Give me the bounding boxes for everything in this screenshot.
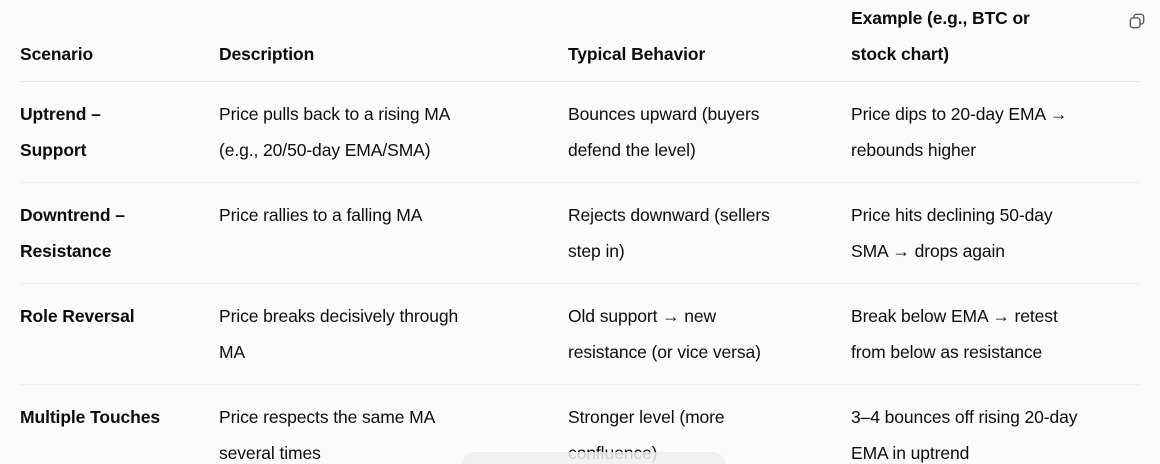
column-header-description: Description xyxy=(219,0,568,82)
cell-scenario: Downtrend – Resistance xyxy=(20,183,219,284)
cell-typical-behavior: Rejects downward (sellers step in) xyxy=(568,183,851,284)
table-row: Uptrend – Support Price pulls back to a … xyxy=(20,82,1140,183)
cell-text-line: (e.g., 20/50-day EMA/SMA) xyxy=(219,132,542,168)
cell-example: Price hits declining 50-day SMA → drops … xyxy=(851,183,1140,284)
cell-text-line: Role Reversal xyxy=(20,298,193,334)
column-header-typical-behavior-label: Typical Behavior xyxy=(568,36,825,72)
cell-text-line: from below as resistance xyxy=(851,334,1114,370)
cell-text-line: resistance (or vice versa) xyxy=(568,334,825,370)
cell-text-line: Price breaks decisively through xyxy=(219,298,542,334)
column-header-typical-behavior: Typical Behavior xyxy=(568,0,851,82)
cell-text-line: Price hits declining 50-day xyxy=(851,197,1114,233)
cell-scenario: Uptrend – Support xyxy=(20,82,219,183)
table-row: Downtrend – Resistance Price rallies to … xyxy=(20,183,1140,284)
table-header-row: Scenario Description Typical Behavior Ex… xyxy=(20,0,1140,82)
message-composer[interactable] xyxy=(462,452,726,464)
cell-example: 3–4 bounces off rising 20-day EMA in upt… xyxy=(851,385,1140,464)
cell-text-line: Support xyxy=(20,132,193,168)
cell-description: Price breaks decisively through MA xyxy=(219,284,568,385)
cell-text-line: EMA in uptrend xyxy=(851,435,1114,464)
cell-example: Price dips to 20-day EMA → rebounds high… xyxy=(851,82,1140,183)
cell-text-line: Multiple Touches xyxy=(20,399,193,435)
column-header-description-label: Description xyxy=(219,36,542,72)
cell-text-line: step in) xyxy=(568,233,825,269)
cell-typical-behavior: Old support → new resistance (or vice ve… xyxy=(568,284,851,385)
cell-text-line: 3–4 bounces off rising 20-day xyxy=(851,399,1114,435)
column-header-scenario: Scenario xyxy=(20,0,219,82)
cell-scenario: Role Reversal xyxy=(20,284,219,385)
table-header: Scenario Description Typical Behavior Ex… xyxy=(20,0,1140,82)
column-header-example-label-line1: Example (e.g., BTC or xyxy=(851,0,1114,36)
scenario-table: Scenario Description Typical Behavior Ex… xyxy=(20,0,1140,464)
cell-text-line: rebounds higher xyxy=(851,132,1114,168)
cell-text-line: Uptrend – xyxy=(20,96,193,132)
cell-text-line: Price pulls back to a rising MA xyxy=(219,96,542,132)
column-header-example: Example (e.g., BTC or stock chart) xyxy=(851,0,1140,82)
cell-description: Price rallies to a falling MA xyxy=(219,183,568,284)
cell-text-line: MA xyxy=(219,334,542,370)
cell-typical-behavior: Bounces upward (buyers defend the level) xyxy=(568,82,851,183)
cell-text-line: Old support → new xyxy=(568,298,825,334)
column-header-scenario-label: Scenario xyxy=(20,36,193,72)
cell-example: Break below EMA → retest from below as r… xyxy=(851,284,1140,385)
cell-text-line: Resistance xyxy=(20,233,193,269)
cell-description: Price pulls back to a rising MA (e.g., 2… xyxy=(219,82,568,183)
cell-text-line: defend the level) xyxy=(568,132,825,168)
cell-text-line: Stronger level (more xyxy=(568,399,825,435)
table-panel: Scenario Description Typical Behavior Ex… xyxy=(0,0,1160,464)
cell-text-line: SMA → drops again xyxy=(851,233,1114,269)
cell-text-line: Price rallies to a falling MA xyxy=(219,197,542,233)
cell-text-line: Price dips to 20-day EMA → xyxy=(851,96,1114,132)
cell-text-line: Break below EMA → retest xyxy=(851,298,1114,334)
column-header-example-label-line2: stock chart) xyxy=(851,36,1114,72)
table-body: Uptrend – Support Price pulls back to a … xyxy=(20,82,1140,464)
cell-text-line: Price respects the same MA xyxy=(219,399,542,435)
cell-scenario: Multiple Touches xyxy=(20,385,219,464)
cell-text-line: Rejects downward (sellers xyxy=(568,197,825,233)
cell-text-line: Downtrend – xyxy=(20,197,193,233)
table-row: Role Reversal Price breaks decisively th… xyxy=(20,284,1140,385)
cell-text-line: Bounces upward (buyers xyxy=(568,96,825,132)
